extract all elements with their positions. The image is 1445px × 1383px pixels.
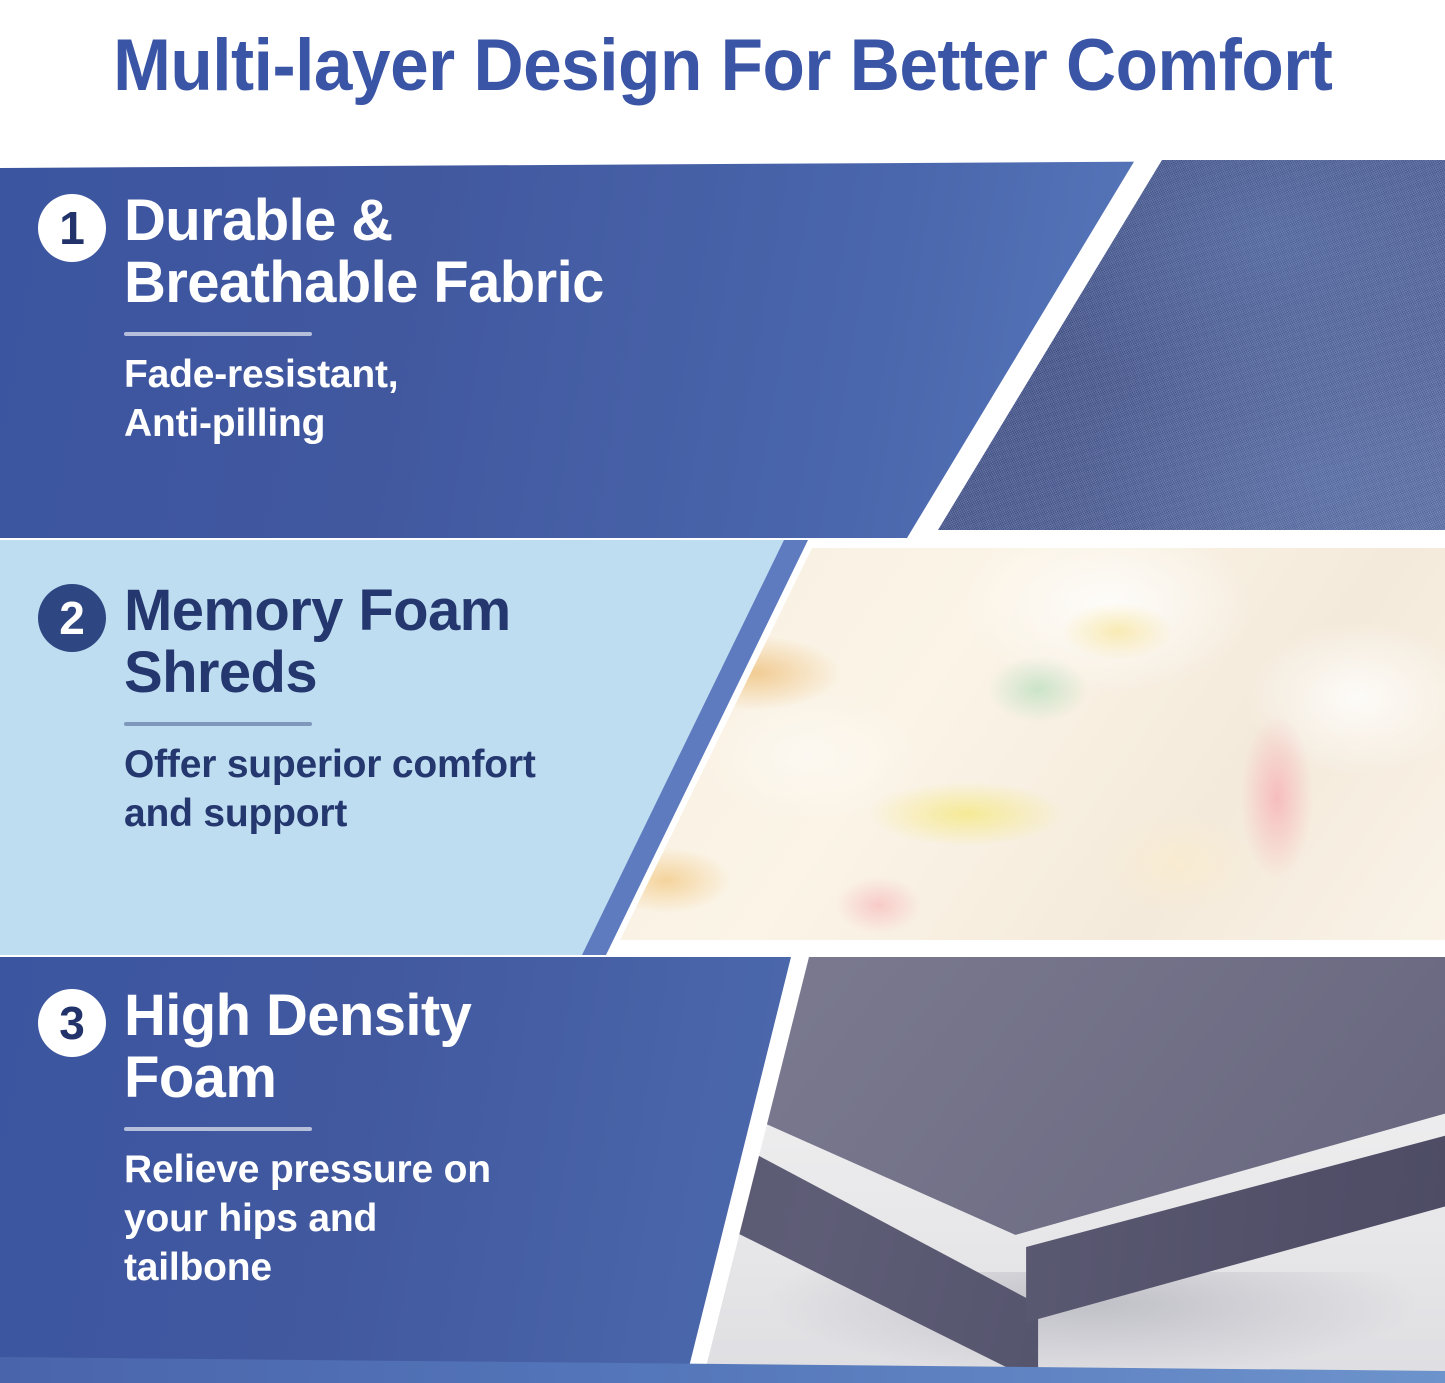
- panel-1-heading-row: 1 Durable & Breathable Fabric: [38, 190, 654, 314]
- panel-1-heading: Durable & Breathable Fabric: [124, 190, 654, 314]
- panel-3-divider: [124, 1127, 312, 1131]
- feature-panel-1: 1 Durable & Breathable Fabric Fade-resis…: [0, 160, 1445, 538]
- product-infographic: Multi-layer Design For Better Comfort 1 …: [0, 0, 1445, 1383]
- panel-3-heading-row: 3 High Density Foam: [38, 985, 564, 1109]
- step-badge-2: 2: [38, 584, 106, 652]
- foam-block-scene: [697, 957, 1445, 1383]
- panel-2-heading-row: 2 Memory Foam Shreds: [38, 580, 594, 704]
- panel-1-text-column: 1 Durable & Breathable Fabric Fade-resis…: [38, 190, 654, 448]
- high-density-foam-block-photo: [697, 957, 1445, 1383]
- panel-3-text-column: 3 High Density Foam Relieve pressure on …: [38, 985, 564, 1292]
- panel-1-divider: [124, 332, 312, 336]
- infographic-title-bar: Multi-layer Design For Better Comfort: [0, 0, 1445, 130]
- panel-1-subtext: Fade-resistant, Anti-pilling: [124, 350, 484, 448]
- page-title: Multi-layer Design For Better Comfort: [113, 24, 1332, 107]
- feature-panel-3: 3 High Density Foam Relieve pressure on …: [0, 957, 1445, 1383]
- panel-2-subtext: Offer superior comfort and support: [124, 740, 564, 838]
- step-badge-3: 3: [38, 989, 106, 1057]
- panel-2-heading: Memory Foam Shreds: [124, 580, 594, 704]
- panel-2-divider: [124, 722, 312, 726]
- step-badge-1: 1: [38, 194, 106, 262]
- panel-3-heading: High Density Foam: [124, 985, 564, 1109]
- panel-2-text-column: 2 Memory Foam Shreds Offer superior comf…: [38, 580, 594, 838]
- feature-panel-2: 2 Memory Foam Shreds Offer superior comf…: [0, 540, 1445, 955]
- panel-3-subtext: Relieve pressure on your hips and tailbo…: [124, 1145, 514, 1292]
